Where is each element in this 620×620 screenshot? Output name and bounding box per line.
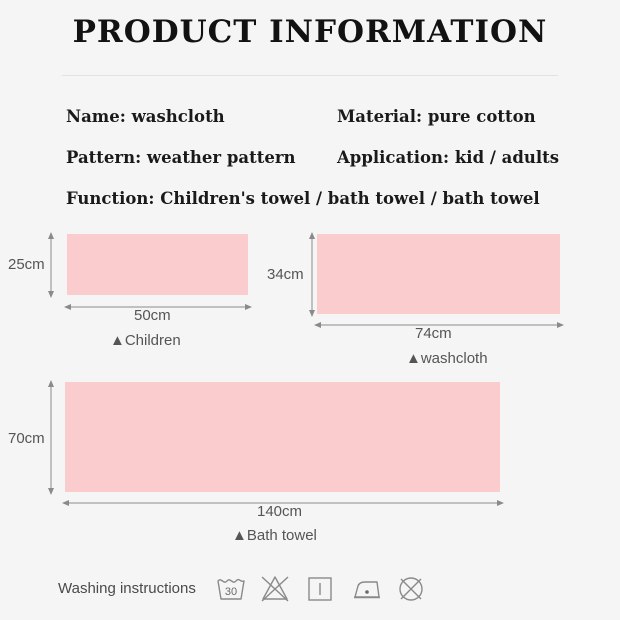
- bath-towel-caption: ▲Bath towel: [232, 527, 317, 544]
- spec-application: Application: kid / adults: [337, 148, 559, 167]
- washcloth-height-label: 34cm: [267, 266, 304, 283]
- spec-function: Function: Children's towel / bath towel …: [66, 189, 540, 208]
- title-divider: [62, 75, 558, 76]
- drip-dry-icon: [303, 572, 337, 604]
- product-information-page: PRODUCT INFORMATION Name: washcloth Mate…: [0, 0, 620, 620]
- spec-name: Name: washcloth: [66, 107, 225, 126]
- bath-towel-height-label: 70cm: [8, 430, 45, 447]
- children-caption: ▲Children: [110, 332, 181, 349]
- spec-pattern: Pattern: weather pattern: [66, 148, 296, 167]
- washcloth-width-label: 74cm: [415, 325, 452, 342]
- washcloth-caption: ▲washcloth: [406, 350, 488, 367]
- washcloth-height-dimension-line: [305, 230, 319, 319]
- page-title: PRODUCT INFORMATION: [0, 14, 620, 50]
- spec-material: Material: pure cotton: [337, 107, 536, 126]
- iron-low-heat-icon: [348, 572, 384, 604]
- bath-towel-width-label: 140cm: [257, 503, 302, 520]
- children-width-label: 50cm: [134, 307, 171, 324]
- washing-instructions-label: Washing instructions: [58, 580, 196, 597]
- wash-30-icon: 30: [214, 572, 248, 604]
- svg-text:30: 30: [225, 586, 237, 598]
- swatch-bath-towel: [65, 382, 500, 492]
- swatch-children: [67, 234, 248, 295]
- children-height-dimension-line: [44, 230, 58, 300]
- children-height-label: 25cm: [8, 256, 45, 273]
- swatch-washcloth: [317, 234, 560, 314]
- do-not-bleach-icon: [258, 572, 292, 604]
- bath-towel-height-dimension-line: [44, 378, 58, 497]
- do-not-dry-clean-icon: [394, 572, 428, 604]
